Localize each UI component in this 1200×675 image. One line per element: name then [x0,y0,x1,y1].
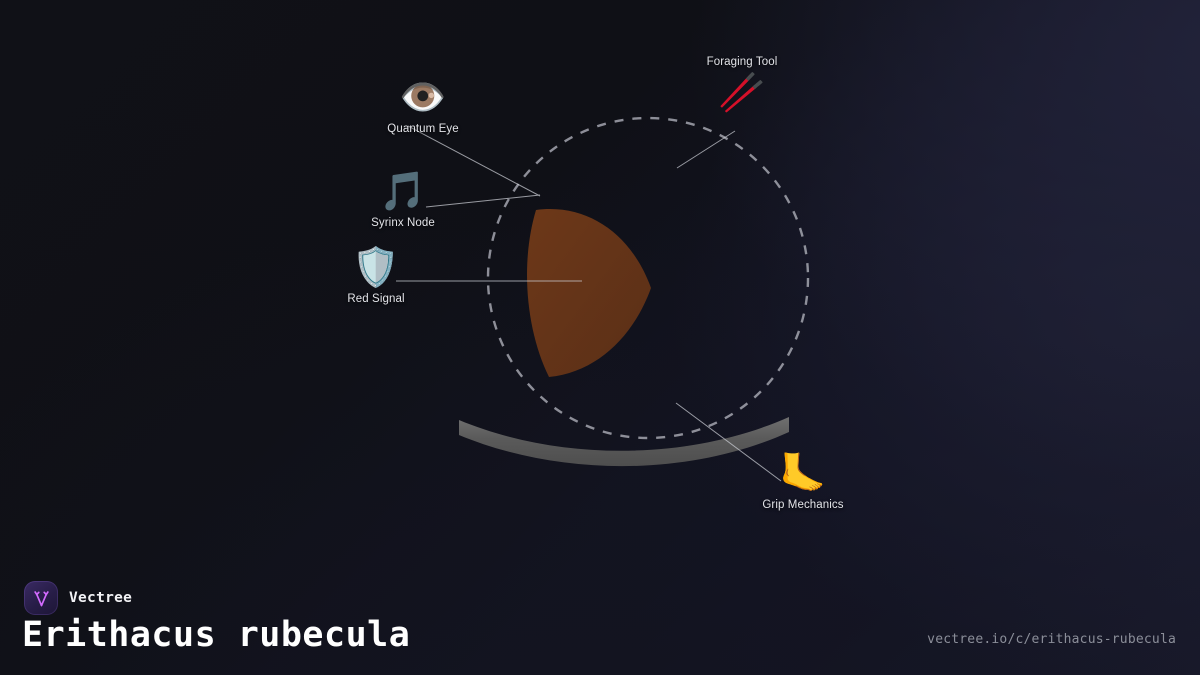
shield-icon: 🛡️ [352,246,399,290]
brand-row[interactable]: Vectree [24,581,132,615]
node-label-syrinx-node: Syrinx Node [371,217,435,229]
node-grip-mechanics[interactable]: 🦶 Grip Mechanics [733,452,873,511]
node-label-foraging-tool: Foraging Tool [707,56,778,68]
breast-wedge [527,209,651,377]
leader-line-foraging-tool [677,131,735,168]
node-label-grip-mechanics: Grip Mechanics [762,499,843,511]
footer: Vectree Erithacus rubecula vectree.io/c/… [0,563,1200,675]
node-red-signal[interactable]: 🛡️ Red Signal [306,246,446,305]
node-quantum-eye[interactable]: 👁️ Quantum Eye [353,76,493,135]
brand-name: Vectree [69,590,132,606]
node-foraging-tool[interactable]: 🥢 Foraging Tool [672,56,812,115]
node-label-red-signal: Red Signal [347,293,404,305]
infographic-canvas: 👁️ Quantum Eye 🎵 Syrinx Node 🛡️ Red Sign… [0,0,1200,675]
footer-url: vectree.io/c/erithacus-rubecula [927,632,1176,647]
eye-icon: 👁️ [399,76,446,120]
page-title: Erithacus rubecula [22,615,410,655]
musical-notes-icon: 🎵 [379,170,426,214]
vectree-v-sprout-icon [24,581,58,615]
node-syrinx-node[interactable]: 🎵 Syrinx Node [333,170,473,229]
foot-icon: 🦶 [779,452,826,496]
node-label-quantum-eye: Quantum Eye [387,123,458,135]
chopsticks-icon: 🥢 [718,71,765,115]
